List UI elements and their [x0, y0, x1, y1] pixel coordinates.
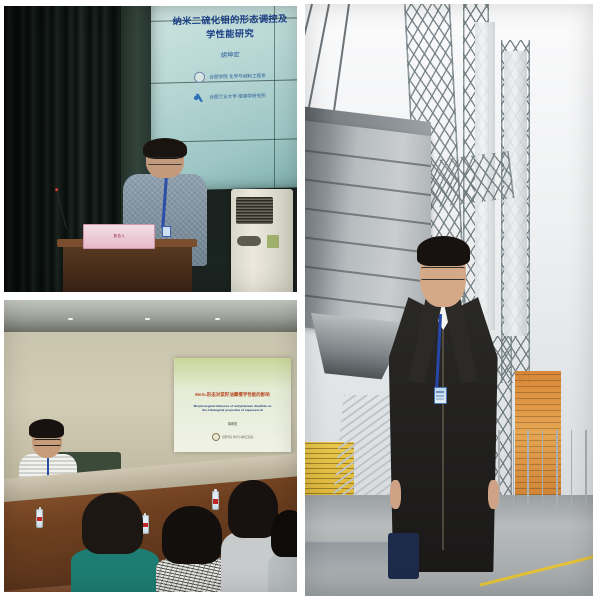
attendee-head	[82, 493, 144, 554]
attendee-head	[162, 506, 221, 564]
hand	[390, 480, 401, 510]
lecture-scene: 纳米二硫化钼的形态调控及 学性能研究 胡坤宏 合肥学院 化学与材料工程系 合肥工…	[4, 6, 297, 292]
slide-title-en-line2: the tribological properties of rapeseed …	[202, 408, 263, 412]
slide-affiliation-1-row: 合肥学院 化学与材料工程系	[155, 70, 297, 85]
ac-label	[267, 235, 279, 247]
shoulder-bag	[388, 533, 419, 579]
air-conditioner	[231, 189, 293, 292]
attendee-head	[271, 510, 298, 557]
slide-title-line1: 纳米二硫化钼的形态调控及	[155, 14, 297, 29]
slide-author: 胡坤宏	[155, 51, 297, 63]
ac-grille	[236, 197, 273, 224]
university-seal-icon	[212, 433, 220, 441]
slide-affiliation-2-row: 合肥工业大学 摩擦学研究所	[155, 92, 297, 104]
institute-logo-icon	[194, 94, 205, 102]
overcoat	[389, 297, 498, 572]
slide-author: 胡坤宏	[179, 421, 287, 426]
podium	[63, 243, 192, 292]
seminar-room-photo: MoS₂形态对菜籽油摩擦学性能的影响 Morphological influen…	[4, 300, 297, 592]
site-scene	[305, 4, 593, 596]
man-portrait	[383, 241, 504, 573]
attendee	[71, 487, 159, 592]
slide-affiliation: 合肥学院 化学与材料工程系	[222, 435, 254, 439]
slide-affiliation-row: 合肥学院 化学与材料工程系	[179, 433, 287, 441]
seminar-scene: MoS₂形态对菜籽油摩擦学性能的影响 Morphological influen…	[4, 300, 297, 592]
man-hair	[417, 236, 470, 266]
eyeglasses-icon	[148, 157, 181, 165]
slab-seam	[305, 207, 432, 225]
slab-seam	[305, 149, 432, 167]
construction-site-portrait-photo	[305, 4, 593, 596]
ceiling-light	[145, 318, 150, 320]
slide-title-line2: 学性能研究	[155, 27, 297, 42]
photo-collage: 纳米二硫化钼的形态调控及 学性能研究 胡坤宏 合肥学院 化学与材料工程系 合肥工…	[0, 0, 600, 600]
attendee-shirt	[71, 548, 159, 592]
slab-seam	[305, 178, 432, 196]
presenter-hair	[29, 419, 64, 438]
ceiling-light	[68, 318, 73, 320]
eyeglasses-icon	[421, 267, 465, 280]
name-plate: 报告人	[83, 224, 155, 249]
ceiling	[4, 300, 297, 332]
slide-title-en: Morphological influence of molybdenum di…	[181, 404, 284, 412]
attendee	[268, 504, 297, 592]
conference-badge	[434, 387, 447, 404]
eyeglasses-icon	[34, 439, 61, 447]
hand	[488, 480, 499, 510]
slide-affiliation-1: 合肥学院 化学与材料工程系	[209, 73, 265, 80]
ceiling-light	[215, 318, 220, 320]
badge	[162, 226, 171, 237]
slide-title-cn: MoS₂形态对菜籽油摩擦学性能的影响	[179, 392, 287, 398]
water-bottle	[36, 509, 43, 528]
slide-affiliation-2: 合肥工业大学 摩擦学研究所	[209, 94, 265, 101]
university-seal-icon	[194, 72, 205, 83]
ac-handle	[237, 236, 260, 245]
conference-lecture-photo: 纳米二硫化钼的形态调控及 学性能研究 胡坤宏 合肥学院 化学与材料工程系 合肥工…	[4, 6, 297, 292]
projector-slide: MoS₂形态对菜籽油摩擦学性能的影响 Morphological influen…	[174, 358, 291, 451]
attendee-shirt	[268, 553, 297, 592]
